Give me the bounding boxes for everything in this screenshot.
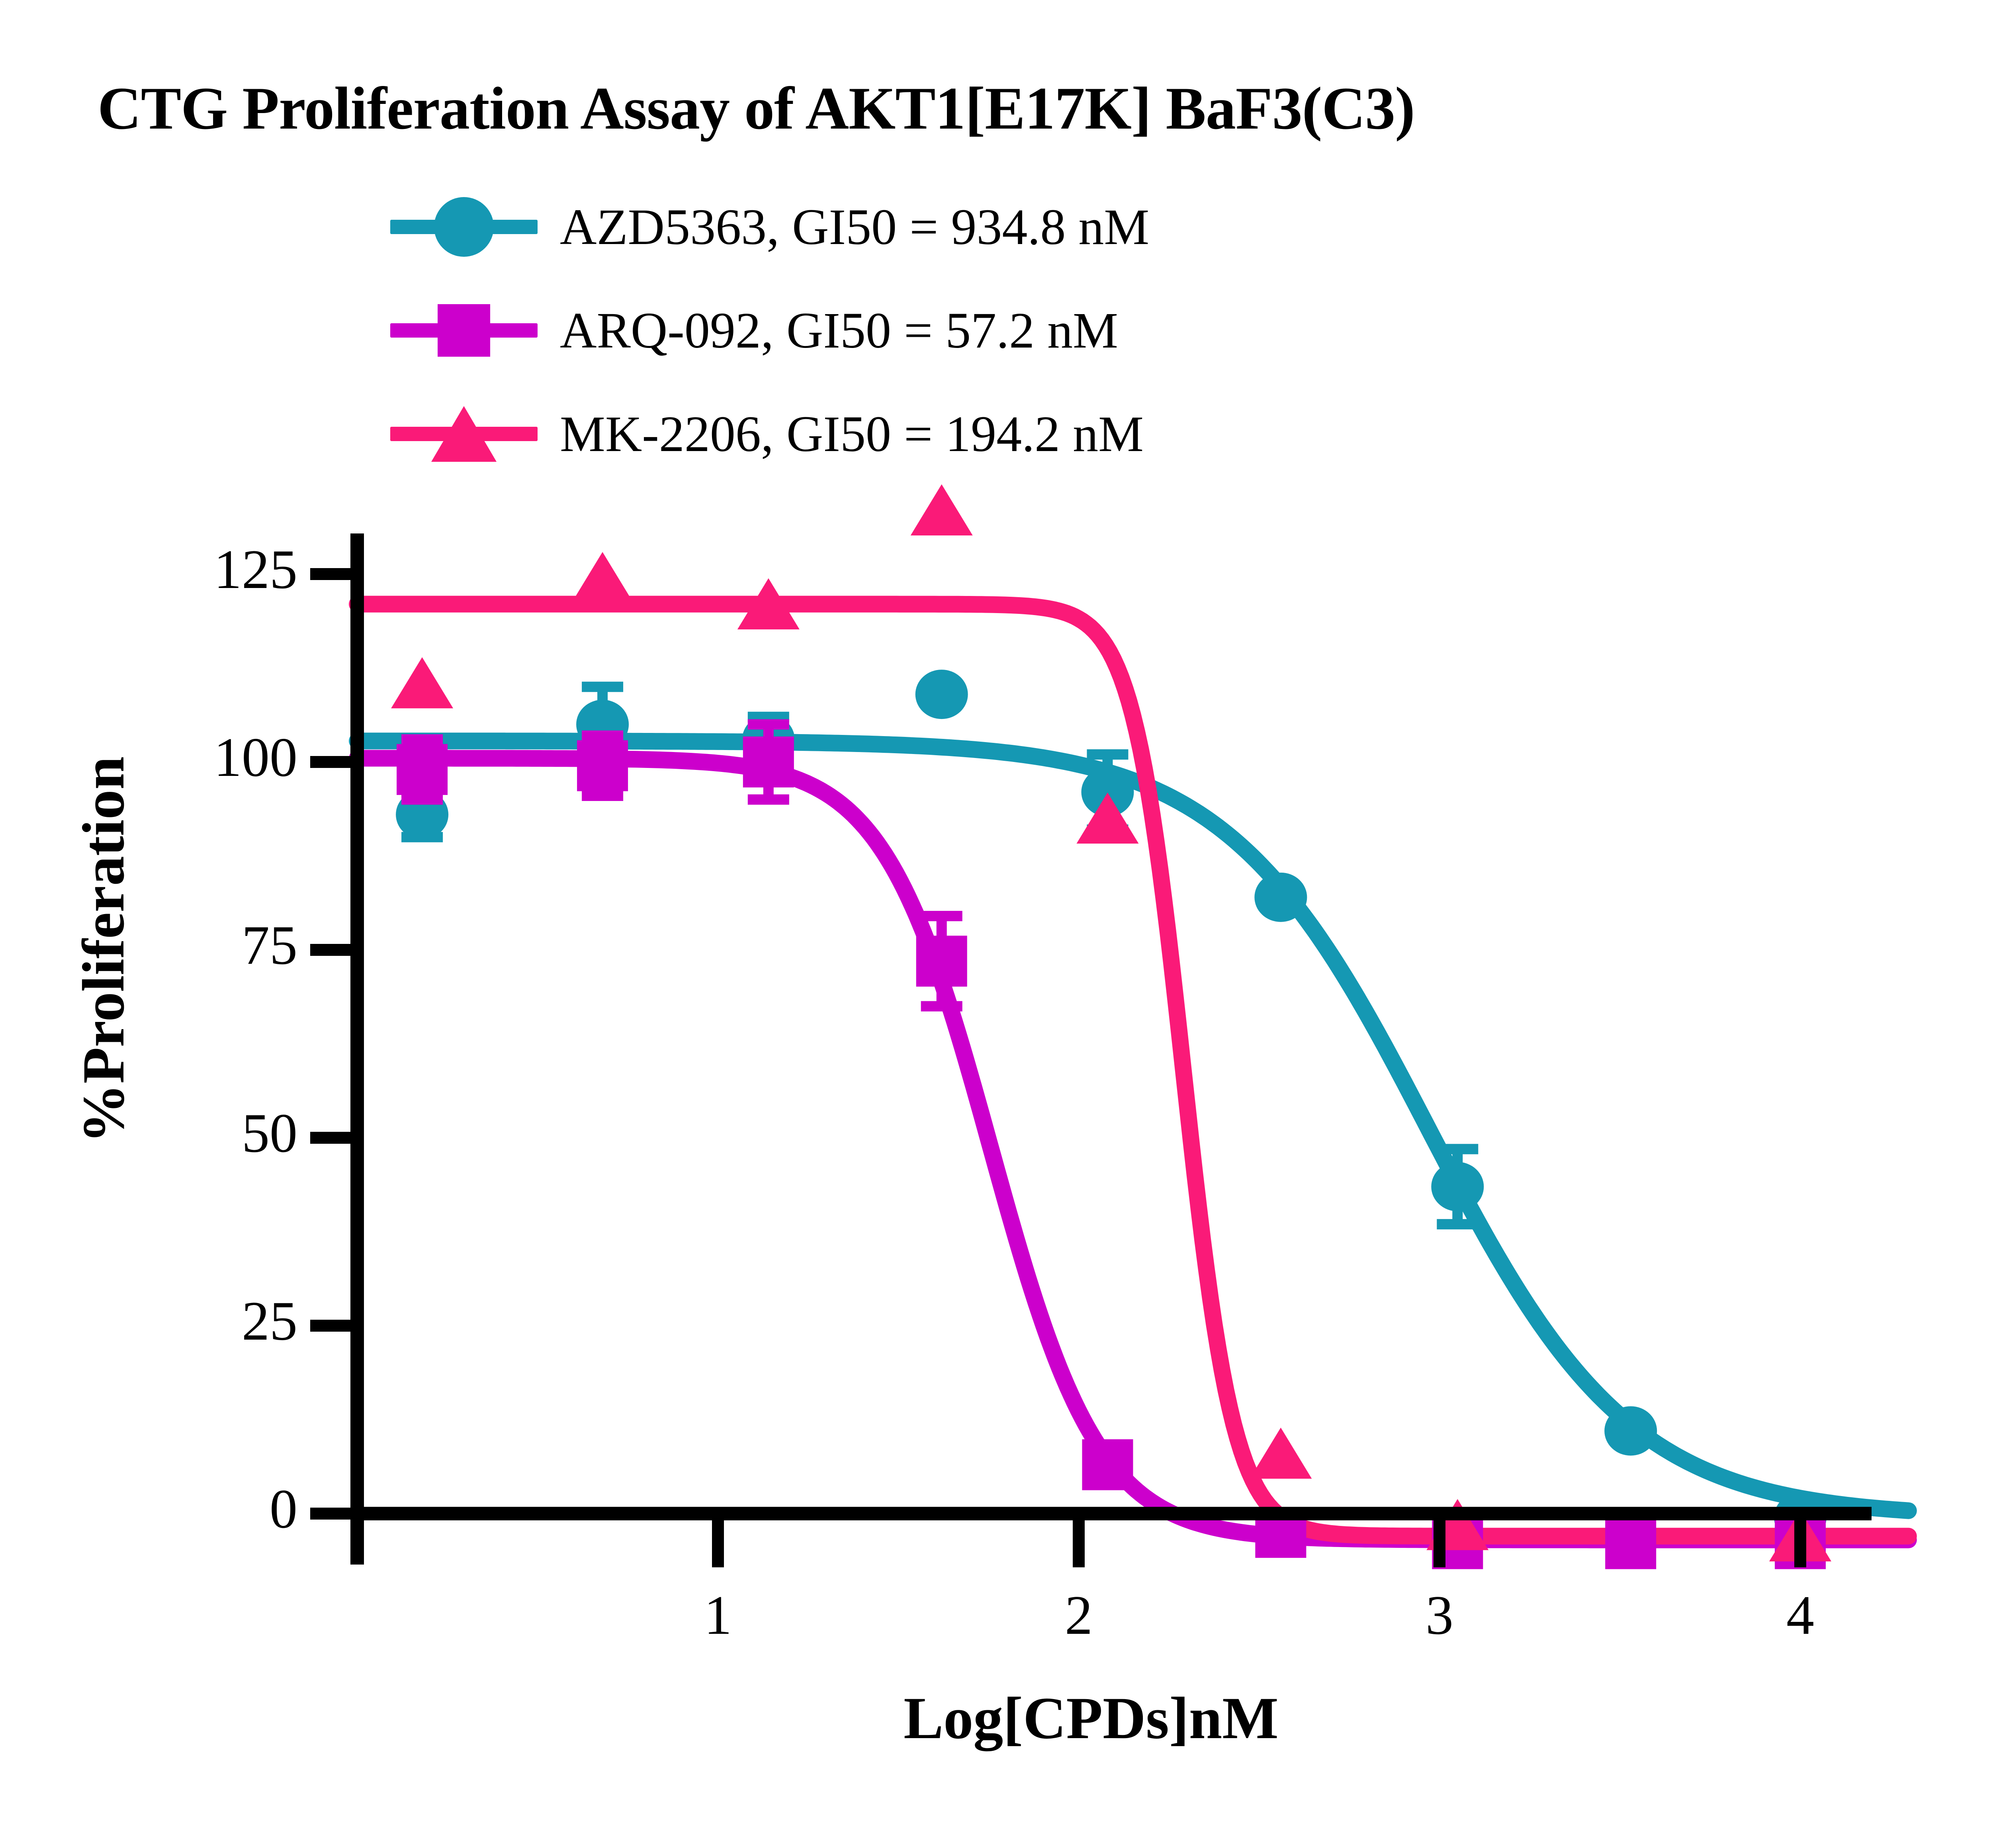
x-tick-label: 2 [1019,1583,1138,1647]
y-tick-label: 100 [43,725,297,789]
y-tick-label: 125 [43,537,297,602]
data-point-azd5363[interactable] [1431,1162,1484,1211]
data-point-azd5363[interactable] [1254,873,1307,922]
plot-area [0,0,1991,1848]
data-point-arq092[interactable] [1605,1518,1656,1569]
data-point-mk2206[interactable] [911,484,973,535]
y-tick-label: 50 [43,1101,297,1165]
data-point-arq092[interactable] [1082,1439,1133,1490]
y-tick-label: 75 [43,913,297,977]
x-tick-label: 1 [658,1583,778,1647]
data-point-mk2206[interactable] [1250,1428,1312,1479]
data-point-arq092[interactable] [916,936,967,987]
data-point-azd5363[interactable] [1604,1406,1657,1455]
x-tick-label: 4 [1741,1583,1860,1647]
chart-figure: CTG Proliferation Assay of AKT1[E17K] Ba… [0,0,1991,1848]
y-tick-label: 25 [43,1289,297,1353]
data-point-mk2206[interactable] [391,657,453,708]
data-point-mk2206[interactable] [571,552,634,603]
data-point-arq092[interactable] [743,736,794,787]
data-point-azd5363[interactable] [915,670,968,719]
x-tick-label: 3 [1380,1583,1499,1647]
fit-curve-arq092 [357,758,1909,1540]
y-tick-label: 0 [43,1477,297,1541]
data-point-arq092[interactable] [397,744,448,795]
fit-curve-azd5363 [357,741,1909,1511]
data-point-arq092[interactable] [577,740,628,791]
